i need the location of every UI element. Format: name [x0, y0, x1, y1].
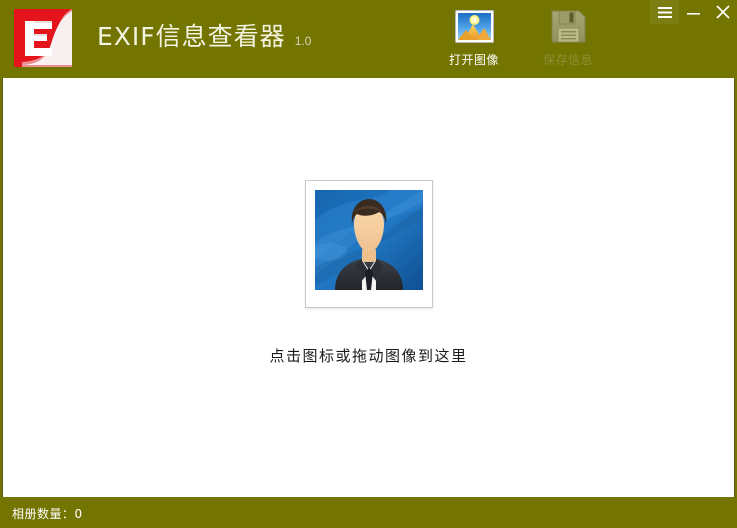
close-icon	[716, 5, 730, 19]
open-image-label: 打开图像	[449, 51, 499, 68]
album-count-status: 相册数量：0	[12, 505, 83, 522]
floppy-disk-save-icon	[548, 6, 589, 47]
app-title: EXIF信息查看器	[97, 24, 286, 49]
image-drop-zone[interactable]: 点击图标或拖动图像到这里	[3, 78, 734, 497]
content-area: 点击图标或拖动图像到这里	[2, 78, 735, 497]
status-bar: 相册数量：0	[0, 497, 737, 528]
app-version: 1.0	[295, 35, 312, 47]
logo-square-icon	[14, 9, 72, 67]
app-logo	[14, 9, 72, 67]
person-avatar-photo-icon	[315, 190, 423, 290]
picture-icon	[454, 6, 495, 47]
save-info-button[interactable]: 保存信息	[537, 6, 599, 68]
hamburger-menu-button[interactable]	[650, 0, 679, 24]
toolbar: 打开图像	[443, 6, 599, 68]
minimize-icon	[687, 7, 700, 18]
drop-hint-text: 点击图标或拖动图像到这里	[269, 345, 467, 366]
save-info-label: 保存信息	[543, 51, 593, 68]
hamburger-menu-icon	[658, 7, 672, 18]
open-image-button[interactable]: 打开图像	[443, 6, 505, 68]
close-button[interactable]	[708, 0, 737, 24]
app-window: EXIF信息查看器 1.0	[0, 0, 737, 528]
photo-placeholder-frame[interactable]	[305, 180, 433, 308]
window-controls	[650, 0, 737, 24]
minimize-button[interactable]	[679, 0, 708, 24]
title-bar: EXIF信息查看器 1.0	[0, 0, 737, 78]
title-group: EXIF信息查看器 1.0	[97, 24, 311, 49]
